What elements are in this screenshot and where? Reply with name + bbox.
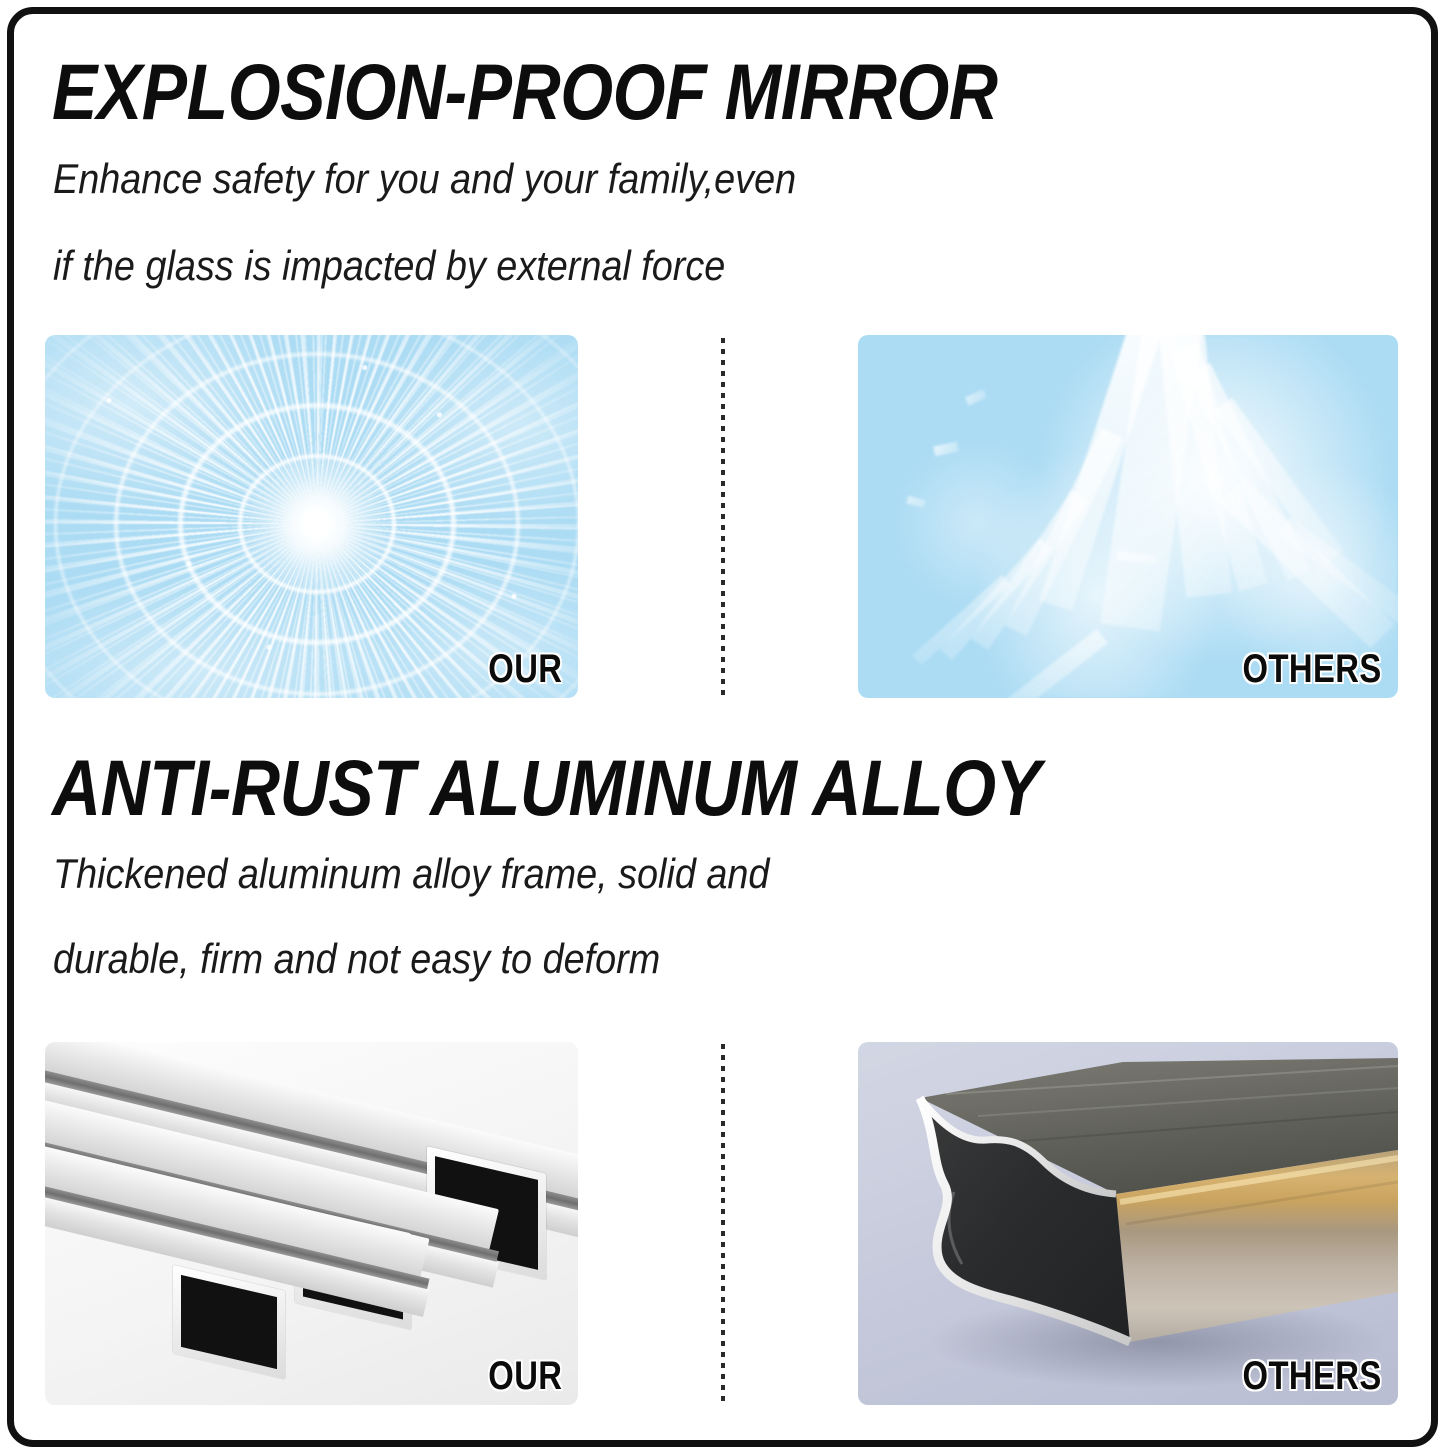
glass-speckle-texture bbox=[45, 335, 578, 698]
aluminum-tube-front bbox=[45, 1042, 578, 1405]
panel-label-our: OUR bbox=[488, 647, 562, 692]
comparison-panel-others-aluminum: OTHERS bbox=[858, 1042, 1398, 1405]
glass-shard-fragment bbox=[965, 389, 987, 405]
panel-label-others: OTHERS bbox=[1243, 1354, 1382, 1399]
section-subtitle-line2-anti-rust: durable, firm and not easy to deform bbox=[53, 938, 660, 980]
section-heading-explosion-proof-mirror: EXPLOSION-PROOF MIRROR bbox=[52, 52, 998, 131]
comparison-panel-our-glass: OUR bbox=[45, 335, 578, 698]
aluminum-tubes-group bbox=[45, 1042, 578, 1405]
section-subtitle-line1-explosion-proof: Enhance safety for you and your family,e… bbox=[53, 158, 796, 200]
section-divider-top bbox=[721, 338, 725, 700]
glass-shard bbox=[994, 629, 1108, 698]
section-subtitle-line2-explosion-proof: if the glass is impacted by external for… bbox=[53, 245, 725, 287]
section-divider-bottom bbox=[721, 1044, 725, 1406]
section-subtitle-line1-anti-rust: Thickened aluminum alloy frame, solid an… bbox=[53, 853, 769, 895]
comparison-panel-others-glass: OTHERS bbox=[858, 335, 1398, 698]
glass-shard-fragment bbox=[933, 442, 959, 457]
deformed-metal-tube-illustration bbox=[858, 1042, 1398, 1405]
infographic-page: EXPLOSION-PROOF MIRROR Enhance safety fo… bbox=[0, 0, 1445, 1454]
comparison-panel-our-aluminum: OUR bbox=[45, 1042, 578, 1405]
panel-label-our: OUR bbox=[488, 1354, 562, 1399]
glass-shard-fragment bbox=[906, 496, 926, 509]
section-heading-anti-rust-aluminum-alloy: ANTI-RUST ALUMINUM ALLOY bbox=[52, 748, 1041, 827]
glass-shard-layer bbox=[858, 335, 1398, 698]
panel-label-others: OTHERS bbox=[1243, 647, 1382, 692]
